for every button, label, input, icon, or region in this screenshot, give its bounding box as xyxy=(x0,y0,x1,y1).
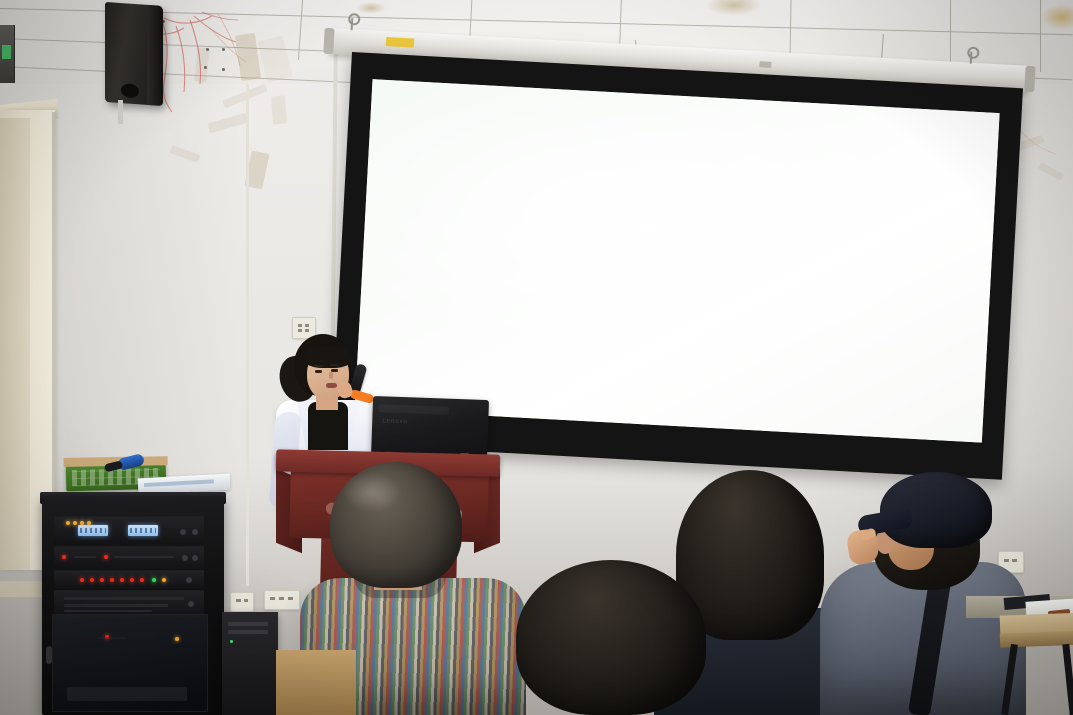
receiver-lcd-left xyxy=(78,525,108,536)
led-meter-unit[interactable] xyxy=(54,570,204,589)
audience-member-center-dark-hair xyxy=(516,560,706,715)
wall-tape-mark xyxy=(271,96,287,125)
wall-speaker xyxy=(105,2,163,106)
eye-cross-section-diagram xyxy=(355,79,1000,442)
lecture-room-photo: 房水循环 xyxy=(0,0,1073,715)
amplifier-unit[interactable] xyxy=(54,546,204,569)
wall-conduit xyxy=(246,84,249,586)
door-opening xyxy=(0,118,30,570)
label-vitreous-body: 玻璃体 xyxy=(875,372,904,388)
rack-door-latch[interactable] xyxy=(46,646,52,664)
roller-hook xyxy=(351,18,354,30)
roller-hook xyxy=(970,52,973,64)
receiver-lcd-right xyxy=(128,525,158,536)
label-ciliary-muscle: 睫状肌 xyxy=(421,243,447,256)
wall-socket[interactable] xyxy=(230,592,254,612)
speaker-bracket xyxy=(118,100,123,124)
label-posterior-chamber: 后房 xyxy=(879,302,899,317)
baseboard xyxy=(0,581,48,597)
roller-warning-label xyxy=(386,37,414,48)
wall-indicator-box xyxy=(0,25,15,83)
label-ciliary-body: 睫状体： xyxy=(395,203,434,219)
rack-door-glass[interactable] xyxy=(52,614,208,712)
label-cornea: 角膜 xyxy=(886,165,906,180)
av-equipment-rack xyxy=(42,496,224,715)
audience-member-grey-hair xyxy=(330,462,462,588)
label-ciliary-process: 睫状突 xyxy=(422,225,448,238)
label-scleral-venous-sinus: 巩膜静脉窦 xyxy=(396,186,444,203)
chair-back xyxy=(276,650,356,715)
desktop-pc-tower xyxy=(222,612,278,715)
wall-red-marks xyxy=(150,8,270,118)
audio-mixer-unit[interactable] xyxy=(54,590,204,617)
label-iris: 虹膜 xyxy=(658,239,678,254)
wireless-receiver-unit[interactable] xyxy=(54,516,204,545)
screen-surface: 房水循环 xyxy=(355,79,1000,442)
label-lens: 晶状体 xyxy=(649,332,678,348)
slide-content: 房水循环 xyxy=(355,79,1000,442)
monitor-brand-mark: Lenovo xyxy=(382,418,408,425)
